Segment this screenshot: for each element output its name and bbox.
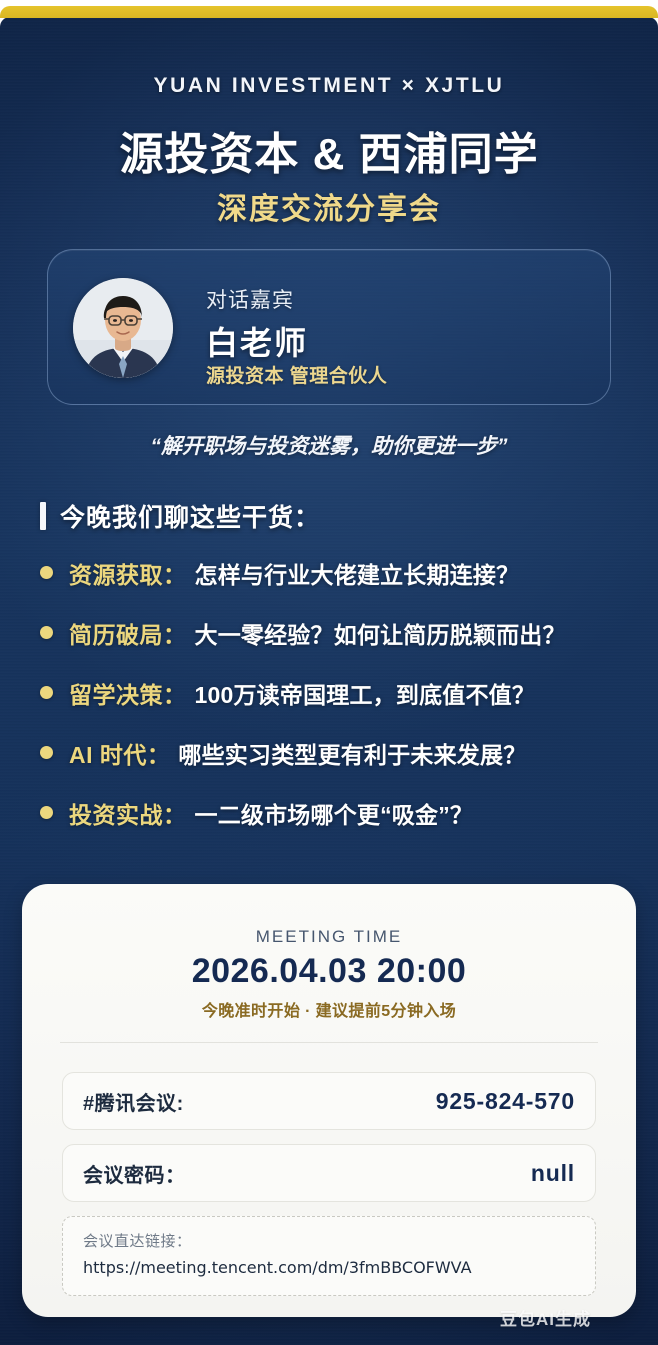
meeting-link-label: 会议直达链接： bbox=[83, 1230, 575, 1251]
meeting-time-label: MEETING TIME bbox=[22, 927, 636, 947]
meeting-id-key: #腾讯会议: bbox=[83, 1087, 184, 1116]
meeting-note: 今晚准时开始 · 建议提前5分钟入场 bbox=[22, 997, 636, 1021]
list-item: 资源获取： 怎样与行业大佬建立长期连接？ bbox=[40, 556, 640, 616]
list-item: AI 时代： 哪些实习类型更有利于未来发展？ bbox=[40, 736, 640, 796]
bullet-dot-icon bbox=[40, 626, 53, 639]
list-item-text: 一二级市场哪个更“吸金”？ bbox=[195, 796, 474, 830]
meeting-id-row[interactable]: #腾讯会议: 925-824-570 bbox=[62, 1072, 596, 1130]
speaker-organization: 源投资本 管理合伙人 bbox=[206, 361, 387, 388]
list-item: 投资实战： 一二级市场哪个更“吸金”？ bbox=[40, 796, 640, 856]
meeting-id-value[interactable]: 925-824-570 bbox=[436, 1088, 575, 1115]
meeting-link-box[interactable]: 会议直达链接： https://meeting.tencent.com/dm/3… bbox=[62, 1216, 596, 1296]
top-gold-bar bbox=[0, 6, 658, 18]
divider bbox=[60, 1042, 598, 1043]
speaker-role: 对话嘉宾 bbox=[206, 284, 294, 314]
bullet-dot-icon bbox=[40, 806, 53, 819]
bullet-dot-icon bbox=[40, 746, 53, 759]
list-item-text: 100万读帝国理工，到底值不值？ bbox=[195, 676, 536, 710]
avatar bbox=[73, 278, 173, 378]
topics-list: 资源获取： 怎样与行业大佬建立长期连接？ 简历破局： 大一零经验？如何让简历脱颖… bbox=[40, 556, 640, 856]
avatar-photo-icon bbox=[73, 278, 173, 378]
meeting-link-url[interactable]: https://meeting.tencent.com/dm/3fmBBCOFW… bbox=[83, 1258, 575, 1277]
list-item-label: 投资实战： bbox=[69, 796, 187, 830]
list-item-text: 大一零经验？如何让简历脱颖而出？ bbox=[195, 616, 566, 650]
list-item-label: 简历破局： bbox=[69, 616, 187, 650]
list-item-text: 哪些实习类型更有利于未来发展？ bbox=[178, 736, 526, 770]
meeting-datetime: 2026.04.03 20:00 bbox=[22, 952, 636, 991]
list-item-text: 怎样与行业大佬建立长期连接？ bbox=[195, 556, 520, 590]
meeting-password-value[interactable]: null bbox=[531, 1160, 575, 1187]
poster-root: YUAN INVESTMENT × XJTLU 源投资本 & 西浦同学 深度交流… bbox=[0, 0, 658, 1345]
list-item-label: 留学决策： bbox=[69, 676, 187, 710]
accent-bar-icon bbox=[40, 502, 46, 530]
meeting-password-key: 会议密码： bbox=[83, 1159, 186, 1188]
tagline: “解开职场与投资迷雾，助你更进一步” bbox=[0, 430, 658, 460]
topics-heading-label: 今晚我们聊这些干货： bbox=[60, 498, 320, 534]
meeting-password-row[interactable]: 会议密码： null bbox=[62, 1144, 596, 1202]
brand-kicker: YUAN INVESTMENT × XJTLU bbox=[0, 74, 658, 98]
list-item-label: AI 时代： bbox=[69, 736, 170, 770]
page-subtitle: 深度交流分享会 bbox=[0, 184, 658, 228]
bullet-dot-icon bbox=[40, 686, 53, 699]
list-item: 留学决策： 100万读帝国理工，到底值不值？ bbox=[40, 676, 640, 736]
bullet-dot-icon bbox=[40, 566, 53, 579]
list-item: 简历破局： 大一零经验？如何让简历脱颖而出？ bbox=[40, 616, 640, 676]
page-title: 源投资本 & 西浦同学 bbox=[0, 118, 658, 182]
speaker-name: 白老师 bbox=[206, 318, 308, 364]
topics-heading: 今晚我们聊这些干货： bbox=[40, 498, 320, 534]
list-item-label: 资源获取： bbox=[69, 556, 187, 590]
watermark: 豆包AI生成 bbox=[500, 1305, 591, 1330]
